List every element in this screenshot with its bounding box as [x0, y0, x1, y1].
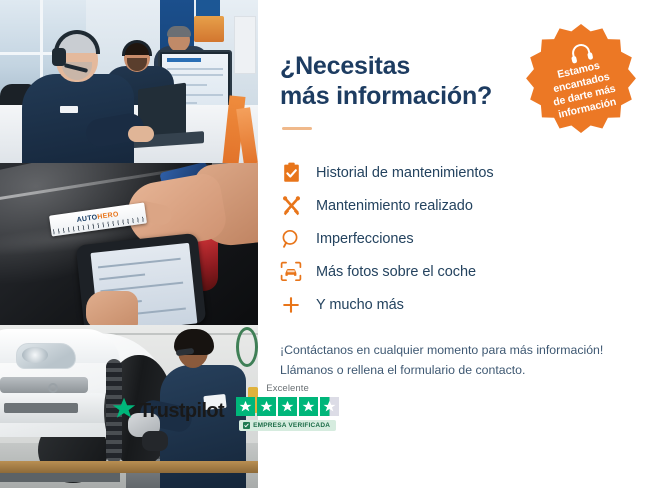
feature-label: Imperfecciones [316, 231, 414, 247]
feature-item-maintenance-history: Historial de mantenimientos [280, 156, 650, 189]
star-icon-filled [299, 397, 318, 416]
car-photo-frame-icon [280, 261, 302, 283]
title-divider [282, 127, 312, 130]
star-icon-filled [236, 397, 255, 416]
trustpilot-wordmark: Trustpilot [139, 400, 224, 423]
tools-cross-icon [280, 195, 302, 217]
star-icon-filled [278, 397, 297, 416]
trustpilot-score-group: Excelente [236, 383, 339, 431]
inspector-second-hand [86, 291, 138, 325]
mechanic-glove [142, 431, 168, 451]
lift-arm [0, 473, 120, 482]
vehicle-lift-platform [0, 461, 258, 473]
agent-hand [128, 126, 154, 142]
feature-label: Historial de mantenimientos [316, 165, 494, 181]
feature-label: Más fotos sobre el coche [316, 264, 476, 280]
tablet-screen-row [98, 258, 181, 269]
car-lower-grille [4, 403, 78, 413]
coiled-hose [236, 327, 258, 367]
call-center-agents-photo [0, 0, 258, 163]
car-grille [0, 377, 88, 393]
contact-paragraph-line-2: Llámanos o rellena el formulario de cont… [280, 363, 525, 377]
headline-line-2: más información? [280, 82, 492, 110]
information-banner: AUTOHERO [0, 0, 650, 488]
verified-company-badge: EMPRESA VERIFICADA [239, 420, 336, 431]
feature-item-much-more: Y mucho más [280, 288, 650, 321]
tablet-screen-row [99, 274, 145, 281]
agent-name-badge [60, 106, 78, 113]
headlight-lens [22, 347, 48, 363]
magnifier-icon [280, 228, 302, 250]
contact-paragraph: ¡Contáctanos en cualquier momento para m… [280, 341, 632, 381]
screen-header-bar [167, 58, 201, 62]
plus-icon [280, 294, 302, 316]
check-square-icon [243, 422, 250, 429]
trustpilot-rating[interactable]: Trustpilot Excelente [112, 383, 339, 431]
feature-item-more-photos: Más fotos sobre el coche [280, 255, 650, 288]
screen-row [167, 74, 223, 76]
headline-line-1: ¿Necesitas [280, 52, 410, 80]
feature-item-maintenance-done: Mantenimiento realizado [280, 189, 650, 222]
background-colleague-hair [167, 26, 191, 37]
trustpilot-logo[interactable]: Trustpilot [112, 397, 224, 425]
car-inspection-ruler-photo: AUTOHERO [0, 163, 258, 325]
status-badge: Estamos encantados de darte más informac… [522, 22, 640, 140]
car-brand-emblem [48, 383, 58, 393]
feature-list: Historial de mantenimientos M [280, 156, 650, 321]
star-icon-filled [257, 397, 276, 416]
wall-poster [194, 16, 224, 42]
trustpilot-star-icon [112, 397, 136, 425]
feature-label: Mantenimiento realizado [316, 198, 473, 214]
feature-item-imperfections: Imperfecciones [280, 222, 650, 255]
page-title: ¿Necesitas más información? [280, 52, 510, 111]
rating-label: Excelente [266, 383, 309, 394]
screen-row [167, 68, 223, 70]
star-rating [236, 397, 339, 416]
clipboard-check-icon [280, 162, 302, 184]
star-icon-half [320, 397, 339, 416]
contact-paragraph-line-1: ¡Contáctanos en cualquier momento para m… [280, 343, 603, 357]
verified-label: EMPRESA VERIFICADA [253, 422, 330, 429]
feature-label: Y mucho más [316, 297, 404, 313]
wall-document [234, 16, 256, 74]
